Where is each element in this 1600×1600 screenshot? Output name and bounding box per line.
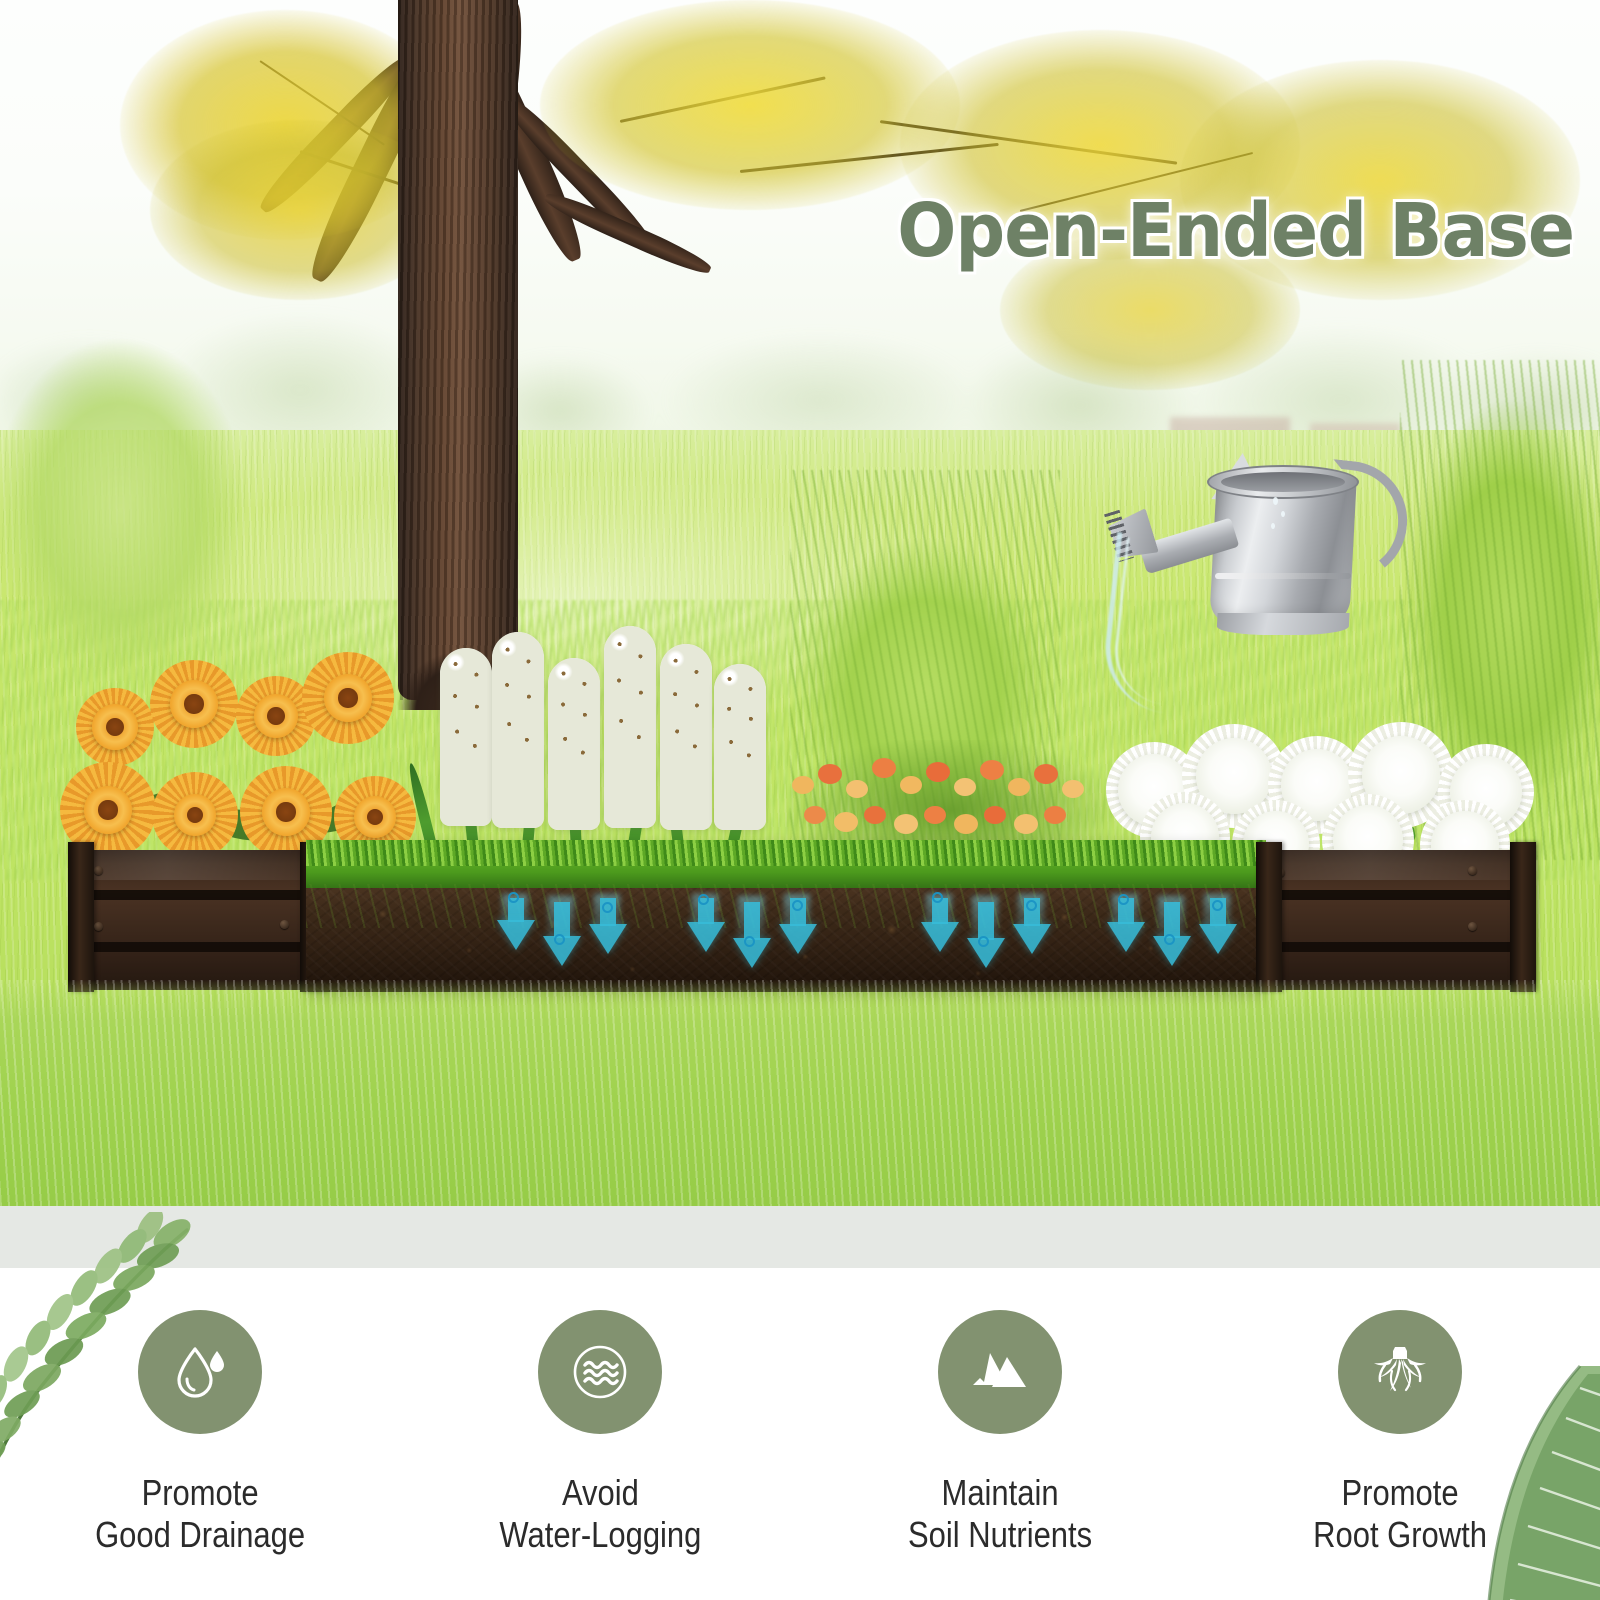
sunflower	[84, 786, 132, 834]
feature-caption-line2: Water-Logging	[499, 1514, 701, 1556]
planter-slat-gap	[68, 942, 316, 952]
feature-caption: Maintain Soil Nutrients	[908, 1472, 1092, 1556]
gladiolus-centers	[714, 664, 766, 830]
coral-flower	[984, 806, 1006, 824]
feature-list: Promote Good Drainage Avoid Water-Loggin…	[0, 1268, 1600, 1600]
foreground-lawn-texture	[0, 980, 1600, 1206]
feature-caption-line1: Avoid	[499, 1472, 701, 1514]
tree-foliage	[540, 0, 960, 210]
planter-corner-post	[68, 842, 94, 992]
sunflower	[354, 796, 396, 838]
feature-caption-line1: Maintain	[908, 1472, 1092, 1514]
planter-slat-gap	[1258, 890, 1536, 900]
turf-blades	[306, 840, 1266, 866]
planter-bolt	[280, 920, 289, 929]
planter-bolt	[1468, 866, 1477, 875]
planter-slat-gap	[68, 890, 316, 900]
feature-caption-line2: Root Growth	[1313, 1514, 1487, 1556]
gladiolus-centers	[548, 658, 600, 830]
coral-flower	[924, 806, 946, 824]
coral-flower	[792, 776, 814, 794]
coral-flower	[1008, 778, 1030, 796]
coral-flower	[954, 778, 976, 796]
coral-flower	[954, 814, 978, 834]
coral-flower	[818, 764, 842, 784]
coral-flower	[1014, 814, 1038, 834]
gladiolus-spike	[440, 648, 492, 826]
water-drip	[1271, 523, 1275, 529]
sunflower	[174, 794, 216, 836]
soil-cross-section	[306, 840, 1266, 992]
product-feature-image: Open-Ended Base	[0, 0, 1600, 1600]
coral-flower	[1044, 806, 1066, 824]
planter-corner-post	[1510, 842, 1536, 992]
shrub-left	[0, 300, 300, 720]
water-drip	[1273, 497, 1278, 505]
sunflower	[170, 680, 218, 728]
planter-slat-gap	[1258, 942, 1536, 952]
watering-can-base	[1216, 613, 1349, 635]
gladiolus-centers	[440, 648, 492, 826]
planter-bolt	[94, 866, 103, 875]
coral-flower	[804, 806, 826, 824]
gladiolus-spike	[604, 626, 656, 828]
sunflower	[262, 788, 310, 836]
gladiolus-centers	[604, 626, 656, 828]
coral-flower	[894, 814, 918, 834]
feature-caption-line1: Promote	[1313, 1472, 1487, 1514]
sunflower	[324, 674, 372, 722]
coral-flower	[980, 760, 1004, 780]
water-waves-icon	[567, 1339, 633, 1405]
feature-icon-badge	[538, 1310, 662, 1434]
feature-caption-line1: Promote	[95, 1472, 305, 1514]
planter-bolt	[94, 922, 103, 931]
feature-icon-badge	[1338, 1310, 1462, 1434]
gladiolus-spike	[660, 644, 712, 830]
mountains-icon	[967, 1339, 1033, 1405]
coral-flower	[900, 776, 922, 794]
gladiolus-spike	[492, 632, 544, 828]
gladiolus-spike	[714, 664, 766, 830]
feature-caption-line2: Good Drainage	[95, 1514, 305, 1556]
planter-wall-right	[1258, 850, 1536, 990]
feature-item-rootgrowth: Promote Root Growth	[1200, 1310, 1600, 1556]
feature-caption: Promote Root Growth	[1313, 1472, 1487, 1556]
sunflower	[92, 704, 138, 750]
sunflower	[254, 694, 298, 738]
raised-garden-bed	[68, 840, 1536, 1000]
page-title: Open-Ended Base	[897, 188, 1574, 274]
watering-can-opening	[1221, 472, 1345, 492]
planter-bolt	[1468, 922, 1477, 931]
feature-caption-line2: Soil Nutrients	[908, 1514, 1092, 1556]
feature-icon-badge	[938, 1310, 1062, 1434]
water-drop-icon	[167, 1339, 233, 1405]
watering-can-band	[1215, 573, 1351, 579]
feature-item-drainage: Promote Good Drainage	[0, 1310, 400, 1556]
feature-item-nutrients: Maintain Soil Nutrients	[800, 1310, 1200, 1556]
gladiolus-centers	[660, 644, 712, 830]
gladiolus-centers	[492, 632, 544, 828]
gladiolus-spike	[548, 658, 600, 830]
feature-caption: Promote Good Drainage	[95, 1472, 305, 1556]
planter-corner-post	[1256, 842, 1282, 992]
water-drip	[1281, 511, 1285, 517]
hero-photo: Open-Ended Base	[0, 0, 1600, 1206]
coral-flower	[872, 758, 896, 778]
coral-flower	[834, 812, 858, 832]
coral-flower	[1034, 764, 1058, 784]
divider-band	[0, 1206, 1600, 1268]
coral-flower	[864, 806, 886, 824]
feature-caption: Avoid Water-Logging	[499, 1472, 701, 1556]
planter-wall-left	[68, 850, 316, 990]
coral-flower	[846, 780, 868, 798]
coral-flower	[926, 762, 950, 782]
feature-item-waterlogging: Avoid Water-Logging	[400, 1310, 800, 1556]
feature-icon-badge	[138, 1310, 262, 1434]
tree-roots-icon	[1365, 1337, 1435, 1407]
coral-flower	[1062, 780, 1084, 798]
